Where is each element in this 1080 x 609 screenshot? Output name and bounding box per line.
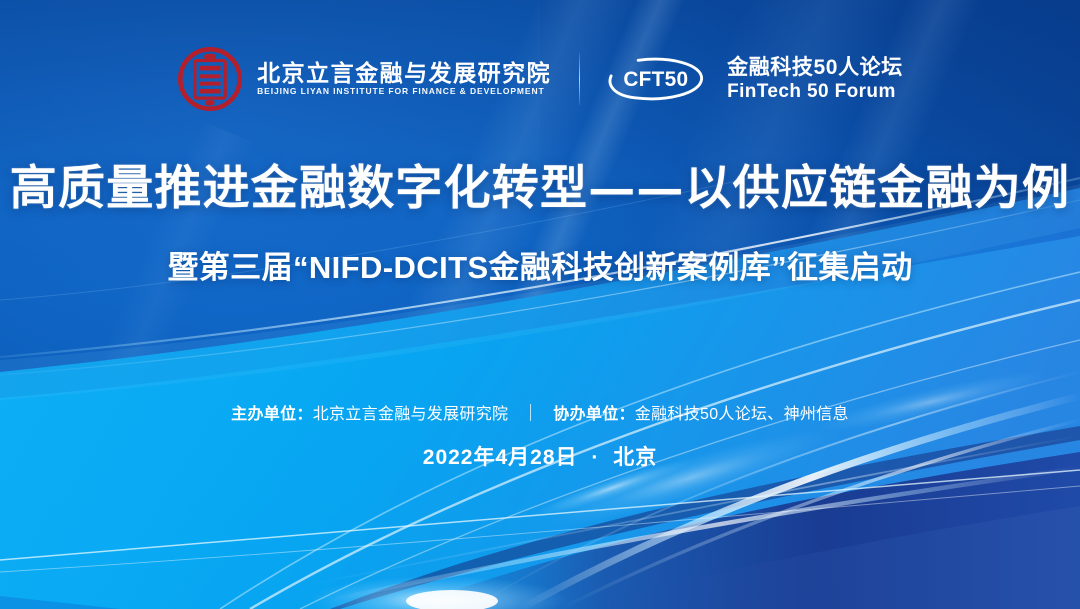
date-location-separator: · [584,446,606,469]
cft50-logo: CFT50 金融科技50人论坛 FinTech 50 Forum [608,53,903,105]
host-label: 主办单位： [231,400,313,424]
liyan-name-en: BEIJING LIYAN INSTITUTE FOR FINANCE & DE… [257,87,551,96]
logo-bar: 北京立言金融与发展研究院 BEIJING LIYAN INSTITUTE FOR… [0,46,1080,112]
event-date: 2022年4月28日 [423,446,578,469]
poster-subtitle: 暨第三届“NIFD-DCITS金融科技创新案例库”征集启动 [0,249,1080,286]
svg-text:CFT50: CFT50 [624,68,689,91]
cft50-name-en: FinTech 50 Forum [727,81,903,102]
logo-divider [579,53,580,105]
liyan-seal-icon [177,46,243,112]
conference-poster: 北京立言金融与发展研究院 BEIJING LIYAN INSTITUTE FOR… [0,0,1080,609]
poster-main-title: 高质量推进金融数字化转型——以供应链金融为例 [0,163,1080,216]
event-location: 北京 [613,446,657,469]
coorganizer-value: 金融科技50人论坛、神州信息 [635,400,849,424]
cft50-name-cn: 金融科技50人论坛 [727,56,903,80]
cft50-ellipse-icon: CFT50 [608,53,712,105]
organizer-credits: 主办单位： 北京立言金融与发展研究院 协办单位： 金融科技50人论坛、神州信息 [0,400,1080,424]
credit-separator [530,404,531,421]
liyan-name-cn: 北京立言金融与发展研究院 [257,61,551,85]
date-location-bar: 2022年4月28日 · 北京 [0,441,1080,471]
cft50-logo-text: 金融科技50人论坛 FinTech 50 Forum [727,56,903,102]
liyan-logo-text: 北京立言金融与发展研究院 BEIJING LIYAN INSTITUTE FOR… [257,61,551,96]
coorganizer-label: 协办单位： [553,400,635,424]
liyan-logo: 北京立言金融与发展研究院 BEIJING LIYAN INSTITUTE FOR… [177,46,551,112]
host-value: 北京立言金融与发展研究院 [313,400,509,424]
